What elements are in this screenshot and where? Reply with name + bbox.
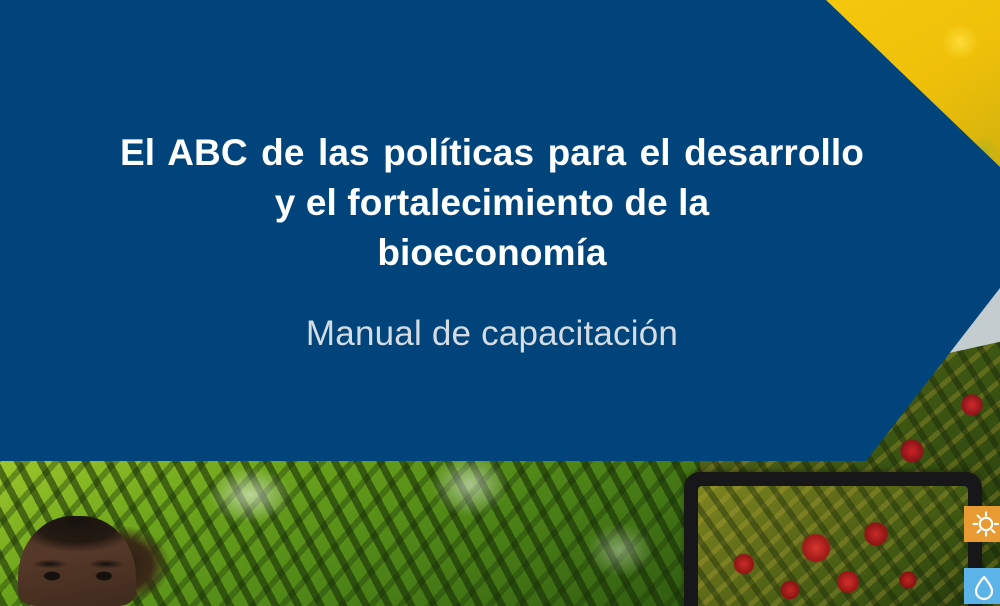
tablet-screen-photo (698, 486, 968, 606)
sun-icon (964, 506, 1000, 542)
title-block: El ABC de las políticas para el desarrol… (120, 128, 864, 278)
title-banner: El ABC de las políticas para el desarrol… (0, 0, 1000, 461)
page-title-line-1: El ABC de las políticas para el (120, 132, 671, 173)
droplet-icon (964, 568, 1000, 604)
page-title-line-3: bioeconomía (120, 228, 864, 278)
page-subtitle: Manual de capacitación (120, 313, 864, 355)
sun-icon-tile (964, 506, 1000, 542)
blue-icon-tile (964, 568, 1000, 604)
page-title: El ABC de las políticas para el desarrol… (120, 128, 864, 278)
tablet-device (684, 472, 982, 606)
cover-page: El ABC de las políticas para el desarrol… (0, 0, 1000, 606)
